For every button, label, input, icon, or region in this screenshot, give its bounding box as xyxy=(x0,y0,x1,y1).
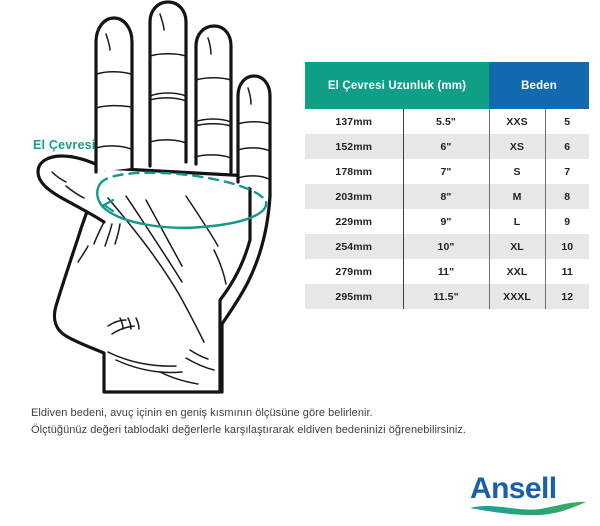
hand-diagram-svg xyxy=(0,0,300,400)
index-finger xyxy=(96,18,132,172)
cell-inch: 8" xyxy=(403,184,489,209)
cell-mm: 178mm xyxy=(305,159,403,184)
table-row: 295mm 11.5" XXXL 12 xyxy=(305,284,589,309)
table-row: 178mm 7" S 7 xyxy=(305,159,589,184)
table-header-row: El Çevresi Uzunluk (mm) Beden xyxy=(305,62,589,109)
cell-letter: XXXL xyxy=(489,284,545,309)
table-row: 254mm 10" XL 10 xyxy=(305,234,589,259)
ansell-logo-svg: Ansell xyxy=(466,468,590,516)
cell-mm: 254mm xyxy=(305,234,403,259)
cell-letter: XXL xyxy=(489,259,545,284)
hand-outline-group xyxy=(38,2,270,392)
cell-number: 5 xyxy=(545,109,589,134)
cell-number: 7 xyxy=(545,159,589,184)
cell-inch: 11" xyxy=(403,259,489,284)
cell-inch: 11.5" xyxy=(403,284,489,309)
table-row: 152mm 6" XS 6 xyxy=(305,134,589,159)
ansell-logo: Ansell xyxy=(466,468,590,516)
table-row: 203mm 8" M 8 xyxy=(305,184,589,209)
cell-letter: XXS xyxy=(489,109,545,134)
caption-line-2: Ölçtüğünüz değeri tablodaki değerlerle k… xyxy=(31,422,576,439)
measure-label: El Çevresi xyxy=(33,138,95,152)
cell-inch: 10" xyxy=(403,234,489,259)
instruction-caption: Eldiven bedeni, avuç içinin en geniş kıs… xyxy=(31,405,576,438)
cell-letter: XL xyxy=(489,234,545,259)
cell-number: 12 xyxy=(545,284,589,309)
cell-number: 6 xyxy=(545,134,589,159)
table-body: 137mm 5.5" XXS 5 152mm 6" XS 6 178mm 7" … xyxy=(305,109,589,309)
table-header: El Çevresi Uzunluk (mm) Beden xyxy=(305,62,589,109)
table-row: 229mm 9" L 9 xyxy=(305,209,589,234)
size-table-element: El Çevresi Uzunluk (mm) Beden 137mm 5.5"… xyxy=(305,62,589,309)
cell-number: 11 xyxy=(545,259,589,284)
cell-letter: XS xyxy=(489,134,545,159)
cell-letter: L xyxy=(489,209,545,234)
glove-size-table: El Çevresi Uzunluk (mm) Beden 137mm 5.5"… xyxy=(305,62,589,309)
cell-mm: 295mm xyxy=(305,284,403,309)
ring-finger xyxy=(196,26,231,172)
table-row: 137mm 5.5" XXS 5 xyxy=(305,109,589,134)
cell-inch: 5.5" xyxy=(403,109,489,134)
ansell-wordmark: Ansell xyxy=(470,472,556,505)
header-size: Beden xyxy=(489,62,589,109)
cell-number: 10 xyxy=(545,234,589,259)
cell-letter: S xyxy=(489,159,545,184)
table-row: 279mm 11" XXL 11 xyxy=(305,259,589,284)
cell-mm: 152mm xyxy=(305,134,403,159)
cell-inch: 9" xyxy=(403,209,489,234)
cell-mm: 229mm xyxy=(305,209,403,234)
cell-number: 8 xyxy=(545,184,589,209)
caption-line-1: Eldiven bedeni, avuç içinin en geniş kıs… xyxy=(31,405,576,422)
cell-mm: 137mm xyxy=(305,109,403,134)
cell-inch: 6" xyxy=(403,134,489,159)
cell-mm: 203mm xyxy=(305,184,403,209)
cell-number: 9 xyxy=(545,209,589,234)
hand-illustration: El Çevresi xyxy=(0,0,300,400)
header-circumference: El Çevresi Uzunluk (mm) xyxy=(305,62,489,109)
cell-inch: 7" xyxy=(403,159,489,184)
cell-mm: 279mm xyxy=(305,259,403,284)
cell-letter: M xyxy=(489,184,545,209)
